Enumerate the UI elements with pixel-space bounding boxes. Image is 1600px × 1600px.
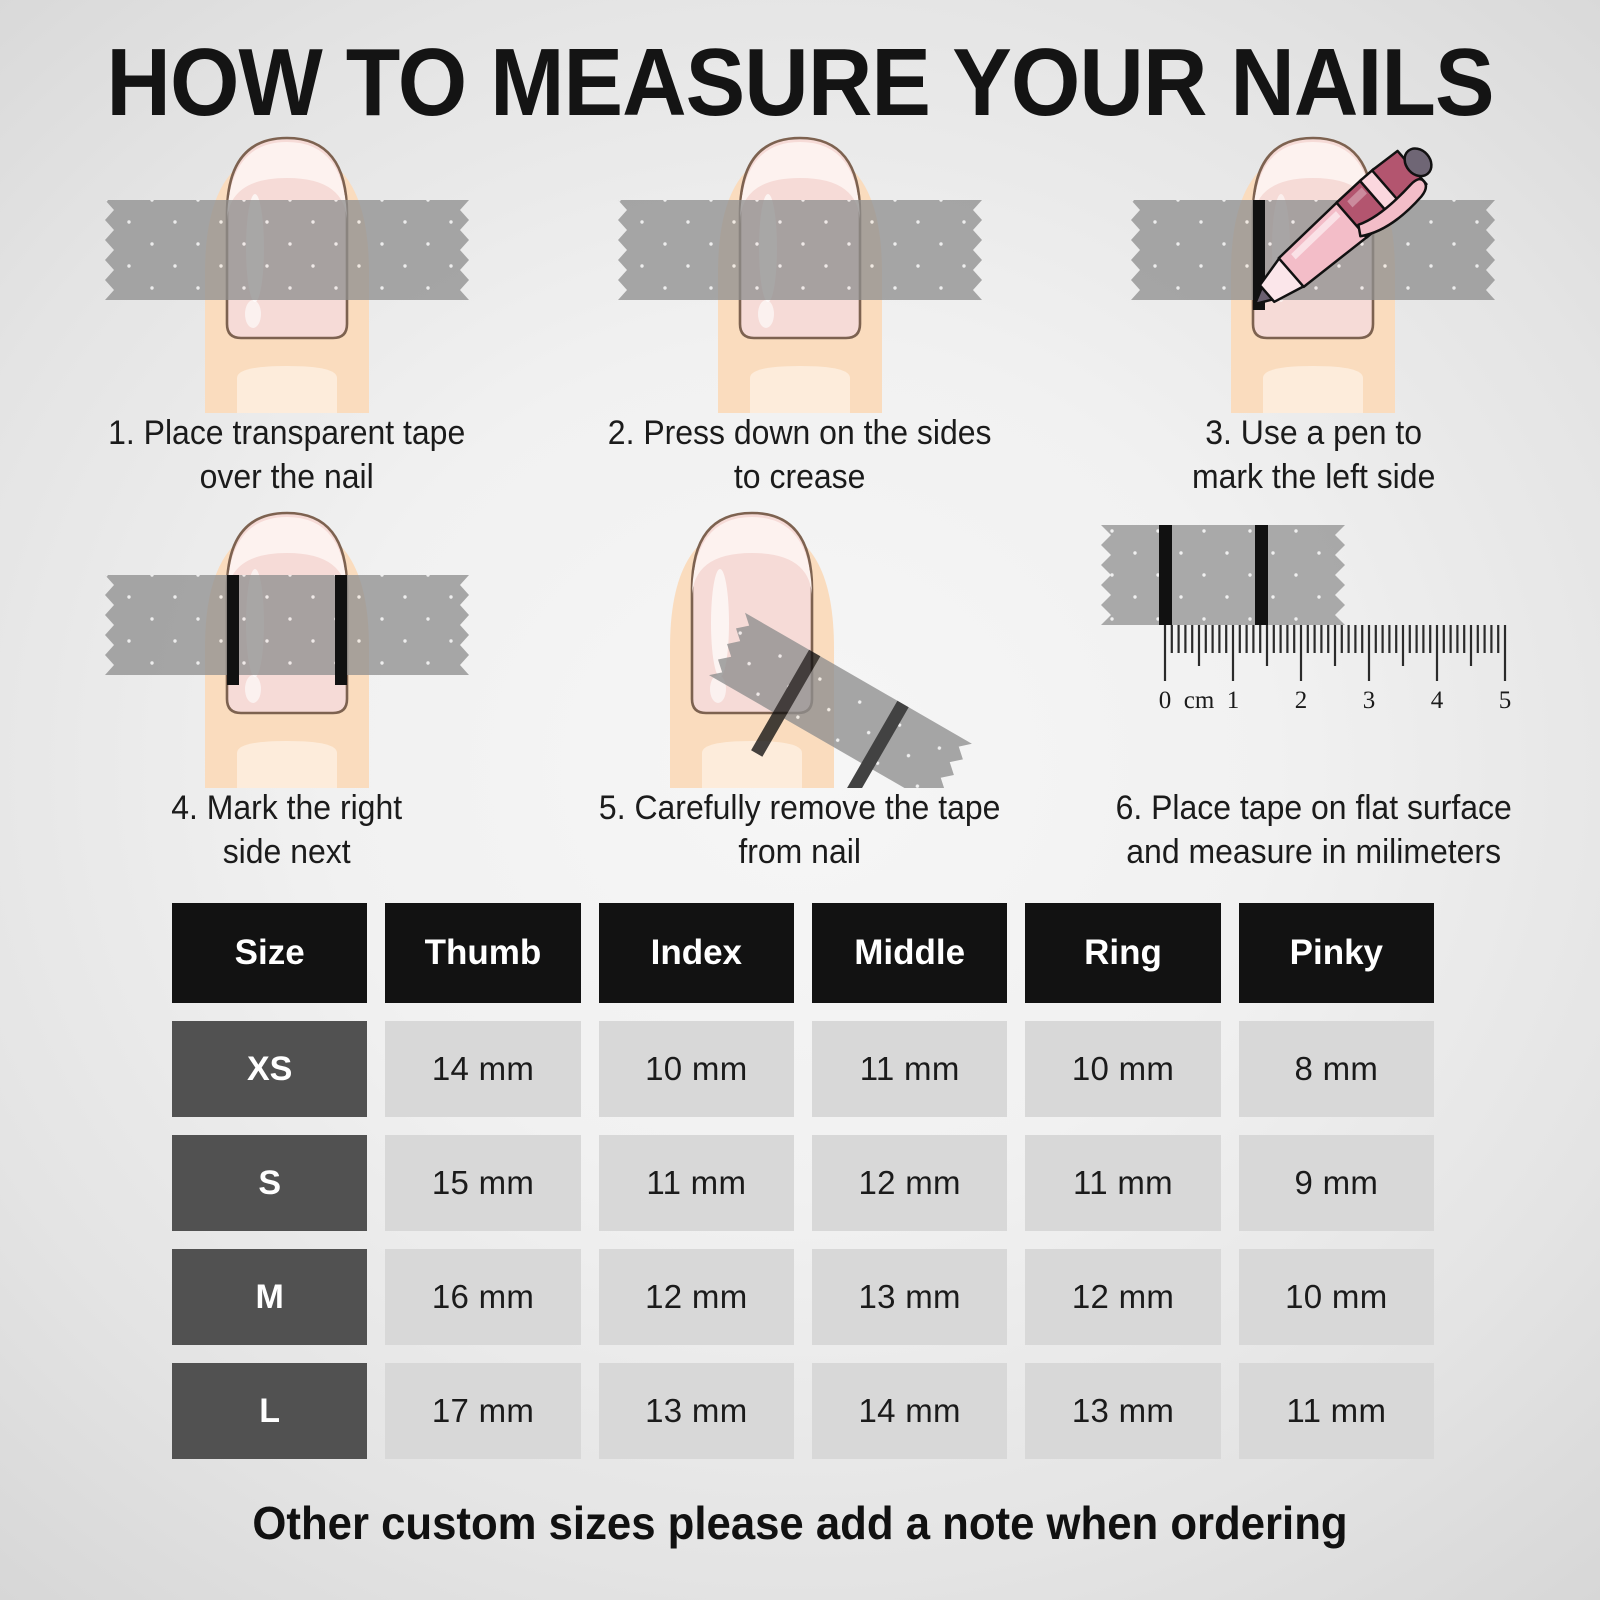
table-header-pinky: Pinky bbox=[1239, 903, 1434, 1003]
step-5-caption: 5. Carefully remove the tape from nail bbox=[559, 787, 1042, 874]
step-2-line1: 2. Press down on the sides bbox=[559, 412, 1042, 456]
size-label-l: L bbox=[172, 1363, 367, 1459]
step-3: 3. Use a pen to mark the left side bbox=[1057, 128, 1570, 503]
table-row: S 15 mm 11 mm 12 mm 11 mm 9 mm bbox=[172, 1135, 1434, 1231]
step-3-line1: 3. Use a pen to bbox=[1072, 412, 1555, 456]
ruler-labels: 0 cm 1 2 3 4 5 bbox=[1159, 687, 1512, 714]
step-2-illustration bbox=[543, 128, 1056, 413]
right-mark bbox=[335, 575, 347, 685]
step-4: 4. Mark the right side next bbox=[30, 503, 543, 878]
step-1-line2: over the nail bbox=[45, 456, 528, 500]
cell-m-index: 12 mm bbox=[599, 1249, 794, 1345]
cell-l-middle: 14 mm bbox=[812, 1363, 1007, 1459]
table-header-index: Index bbox=[599, 903, 794, 1003]
table-header-row: Size Thumb Index Middle Ring Pinky bbox=[172, 903, 1434, 1003]
step-3-line2: mark the left side bbox=[1072, 456, 1555, 500]
step-5-line2: from nail bbox=[559, 831, 1042, 875]
cell-m-middle: 13 mm bbox=[812, 1249, 1007, 1345]
cell-xs-index: 10 mm bbox=[599, 1021, 794, 1117]
step-2-line2: to crease bbox=[559, 456, 1042, 500]
step-1-line1: 1. Place transparent tape bbox=[45, 412, 528, 456]
step-6-illustration: 0 cm 1 2 3 4 5 bbox=[1057, 503, 1570, 788]
step-5: 5. Carefully remove the tape from nail bbox=[543, 503, 1056, 878]
tape-mark-right bbox=[1255, 525, 1268, 625]
footer-note: Other custom sizes please add a note whe… bbox=[40, 1496, 1560, 1550]
cell-m-ring: 12 mm bbox=[1025, 1249, 1220, 1345]
table-header-size: Size bbox=[172, 903, 367, 1003]
cell-s-middle: 12 mm bbox=[812, 1135, 1007, 1231]
step-4-caption: 4. Mark the right side next bbox=[45, 787, 528, 874]
step-4-line2: side next bbox=[45, 831, 528, 875]
steps-grid: 1. Place transparent tape over the nail bbox=[30, 128, 1570, 878]
step-1: 1. Place transparent tape over the nail bbox=[30, 128, 543, 503]
step-3-caption: 3. Use a pen to mark the left side bbox=[1072, 412, 1555, 499]
ruler-label-1: 1 bbox=[1227, 687, 1240, 714]
size-label-m: M bbox=[172, 1249, 367, 1345]
cell-l-index: 13 mm bbox=[599, 1363, 794, 1459]
step-6-caption: 6. Place tape on flat surface and measur… bbox=[1072, 787, 1555, 874]
ruler-label-0: 0 bbox=[1159, 687, 1172, 714]
cell-xs-middle: 11 mm bbox=[812, 1021, 1007, 1117]
step-5-illustration bbox=[543, 503, 1056, 788]
cell-s-pinky: 9 mm bbox=[1239, 1135, 1434, 1231]
ruler-label-5: 5 bbox=[1499, 687, 1512, 714]
cell-m-thumb: 16 mm bbox=[385, 1249, 580, 1345]
step-3-illustration bbox=[1057, 128, 1570, 413]
page-title: HOW TO MEASURE YOUR NAILS bbox=[56, 28, 1544, 138]
ruler-unit-label: cm bbox=[1184, 687, 1215, 714]
table-header-ring: Ring bbox=[1025, 903, 1220, 1003]
step-6: 0 cm 1 2 3 4 5 6. Place tape on flat sur… bbox=[1057, 503, 1570, 878]
step-1-caption: 1. Place transparent tape over the nail bbox=[45, 412, 528, 499]
left-mark bbox=[227, 575, 239, 685]
ruler-ticks bbox=[1165, 625, 1505, 681]
cell-l-thumb: 17 mm bbox=[385, 1363, 580, 1459]
ruler-label-4: 4 bbox=[1431, 687, 1444, 714]
size-label-xs: XS bbox=[172, 1021, 367, 1117]
step-4-line1: 4. Mark the right bbox=[45, 787, 528, 831]
cell-s-index: 11 mm bbox=[599, 1135, 794, 1231]
cell-s-ring: 11 mm bbox=[1025, 1135, 1220, 1231]
cell-l-ring: 13 mm bbox=[1025, 1363, 1220, 1459]
cell-xs-thumb: 14 mm bbox=[385, 1021, 580, 1117]
table-row: L 17 mm 13 mm 14 mm 13 mm 11 mm bbox=[172, 1363, 1434, 1459]
tape-mark-left bbox=[1159, 525, 1172, 625]
step-2: 2. Press down on the sides to crease bbox=[543, 128, 1056, 503]
cell-l-pinky: 11 mm bbox=[1239, 1363, 1434, 1459]
cell-xs-pinky: 8 mm bbox=[1239, 1021, 1434, 1117]
table-row: XS 14 mm 10 mm 11 mm 10 mm 8 mm bbox=[172, 1021, 1434, 1117]
cell-xs-ring: 10 mm bbox=[1025, 1021, 1220, 1117]
step-6-line1: 6. Place tape on flat surface bbox=[1072, 787, 1555, 831]
size-chart-table: Size Thumb Index Middle Ring Pinky XS 14… bbox=[172, 903, 1434, 1459]
ruler-label-3: 3 bbox=[1363, 687, 1376, 714]
cell-s-thumb: 15 mm bbox=[385, 1135, 580, 1231]
size-label-s: S bbox=[172, 1135, 367, 1231]
step-5-line1: 5. Carefully remove the tape bbox=[559, 787, 1042, 831]
step-4-illustration bbox=[30, 503, 543, 788]
table-header-middle: Middle bbox=[812, 903, 1007, 1003]
ruler-label-2: 2 bbox=[1295, 687, 1308, 714]
step-2-caption: 2. Press down on the sides to crease bbox=[559, 412, 1042, 499]
step-6-line2: and measure in milimeters bbox=[1072, 831, 1555, 875]
cell-m-pinky: 10 mm bbox=[1239, 1249, 1434, 1345]
step-1-illustration bbox=[30, 128, 543, 413]
table-header-thumb: Thumb bbox=[385, 903, 580, 1003]
table-row: M 16 mm 12 mm 13 mm 12 mm 10 mm bbox=[172, 1249, 1434, 1345]
